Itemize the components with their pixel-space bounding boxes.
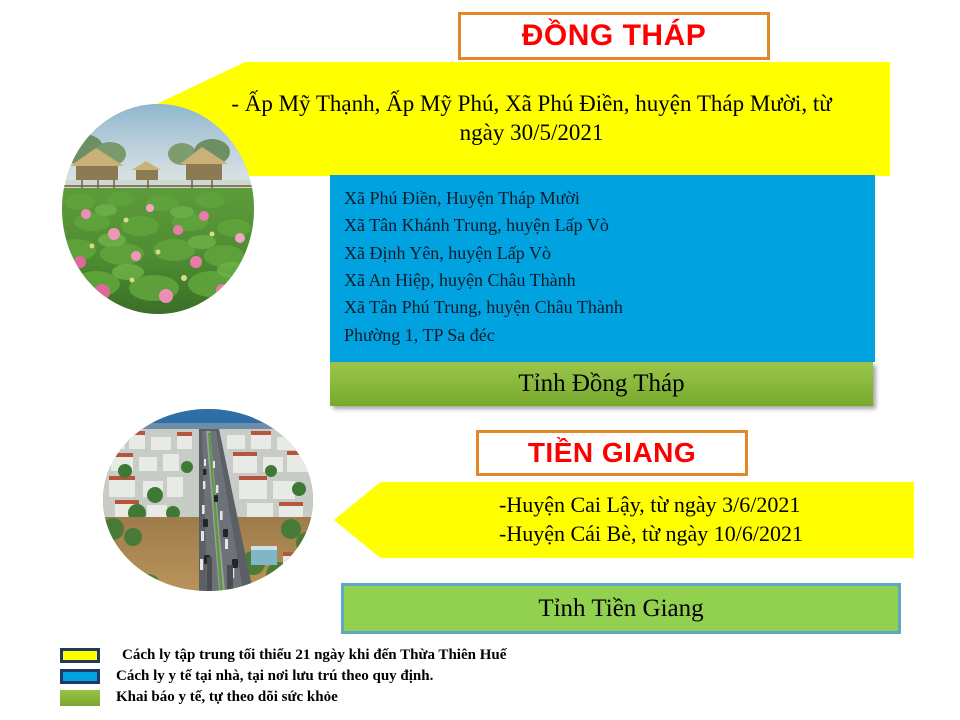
section-title-dong-thap: ĐỒNG THÁP [458, 12, 770, 60]
yellow-banner-tien-giang-line1: -Huyện Cai Lậy, từ ngày 3/6/2021 [499, 491, 803, 520]
lotus-field-illustration [62, 104, 254, 314]
legend-row: Cách ly tập trung tối thiểu 21 ngày khi … [60, 645, 506, 666]
legend-label: Khai báo y tế, tự theo dõi sức khỏe [116, 690, 338, 705]
legend-swatch-blue [60, 669, 100, 684]
yellow-banner-tien-giang-text: -Huyện Cai Lậy, từ ngày 3/6/2021 -Huyện … [499, 491, 803, 548]
list-item: Xã Tân Phú Trung, huyện Châu Thành [344, 294, 875, 321]
blue-list-box-dong-thap: Xã Phú Điền, Huyện Tháp Mười Xã Tân Khán… [330, 175, 875, 362]
green-bar-tinh-dong-thap-label: Tỉnh Đồng Tháp [518, 370, 684, 398]
green-box-tinh-tien-giang: Tỉnh Tiền Giang [341, 583, 901, 634]
legend-swatch-yellow [60, 648, 100, 663]
section-title-dong-thap-label: ĐỒNG THÁP [522, 21, 707, 51]
yellow-banner-dong-thap-text: - Ấp Mỹ Thạnh, Ấp Mỹ Phú, Xã Phú Điền, h… [212, 90, 852, 148]
green-bar-tinh-dong-thap: Tỉnh Đồng Tháp [330, 362, 873, 406]
yellow-banner-tien-giang-line2: -Huyện Cái Bè, từ ngày 10/6/2021 [499, 520, 803, 549]
legend-label: Cách ly tập trung tối thiểu 21 ngày khi … [122, 648, 506, 663]
blue-list: Xã Phú Điền, Huyện Tháp Mười Xã Tân Khán… [344, 185, 875, 349]
legend: Cách ly tập trung tối thiểu 21 ngày khi … [60, 645, 506, 708]
aerial-city-illustration [103, 409, 313, 591]
legend-row: Khai báo y tế, tự theo dõi sức khỏe [60, 687, 506, 708]
list-item: Xã Tân Khánh Trung, huyện Lấp Vò [344, 212, 875, 239]
list-item: Phường 1, TP Sa đéc [344, 322, 875, 349]
legend-row: Cách ly y tế tại nhà, tại nơi lưu trú th… [60, 666, 506, 687]
lotus-field-photo [62, 104, 254, 314]
legend-swatch-green [60, 690, 100, 706]
list-item: Xã Định Yên, huyện Lấp Vò [344, 240, 875, 267]
legend-label: Cách ly y tế tại nhà, tại nơi lưu trú th… [116, 669, 433, 684]
section-title-tien-giang: TIỀN GIANG [476, 430, 748, 476]
slide-canvas: ĐỒNG THÁP - Ấp Mỹ Thạnh, Ấp Mỹ Phú, Xã P… [0, 0, 960, 720]
aerial-city-bridge-photo [103, 409, 313, 591]
list-item: Xã Phú Điền, Huyện Tháp Mười [344, 185, 875, 212]
yellow-banner-tien-giang: -Huyện Cai Lậy, từ ngày 3/6/2021 -Huyện … [334, 482, 914, 558]
green-box-tinh-tien-giang-label: Tỉnh Tiền Giang [538, 595, 703, 623]
list-item: Xã An Hiệp, huyện Châu Thành [344, 267, 875, 294]
section-title-tien-giang-label: TIỀN GIANG [528, 439, 696, 467]
